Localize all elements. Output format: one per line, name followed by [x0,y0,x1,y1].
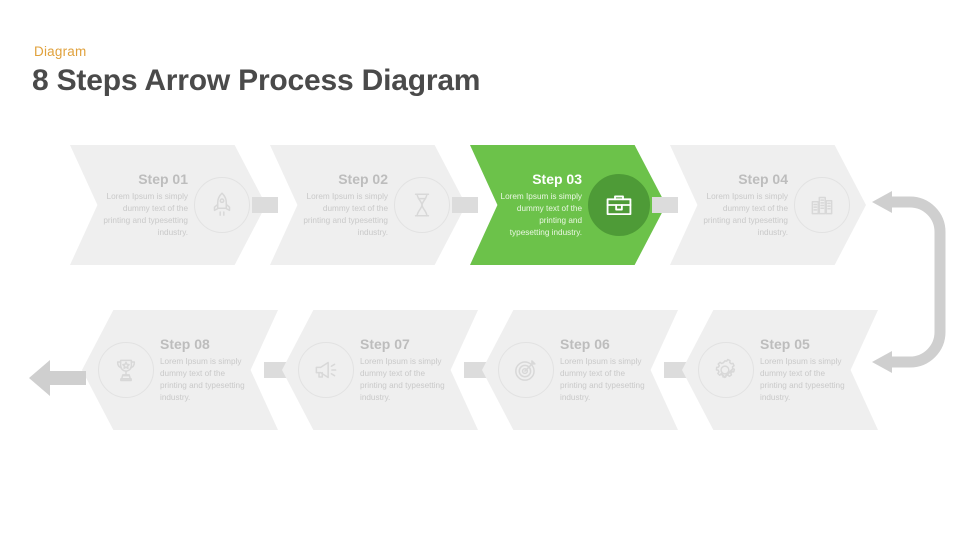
step-description: Lorem Ipsum is simply dummy text of the … [100,191,188,239]
step-title: Step 06 [560,337,650,352]
step-title: Step 05 [760,337,850,352]
connector-tab [652,197,678,213]
target-icon [498,342,554,398]
step-title: Step 08 [160,337,250,352]
step-title: Step 07 [360,337,450,352]
briefcase-icon [588,174,650,236]
connector-arrow-left [26,355,86,406]
connector-tab [452,197,478,213]
step-card-4[interactable]: Step 04 Lorem Ipsum is simply dummy text… [670,145,866,265]
connector-tab [252,197,278,213]
gear-check-icon [698,342,754,398]
rocket-icon [194,177,250,233]
hourglass-icon [394,177,450,233]
step-description: Lorem Ipsum is simply dummy text of the … [560,356,650,404]
buildings-icon [794,177,850,233]
trophy-icon [98,342,154,398]
megaphone-icon [298,342,354,398]
step-card-7[interactable]: Step 07 Lorem Ipsum is simply dummy text… [282,310,478,430]
step-description: Lorem Ipsum is simply dummy text of the … [760,356,850,404]
step-title: Step 02 [300,172,388,187]
slide-kicker: Diagram [34,44,86,59]
process-row-top: Step 01 Lorem Ipsum is simply dummy text… [0,145,960,275]
step-card-6[interactable]: Step 06 Lorem Ipsum is simply dummy text… [482,310,678,430]
step-card-2[interactable]: Step 02 Lorem Ipsum is simply dummy text… [270,145,466,265]
page-title: 8 Steps Arrow Process Diagram [32,64,480,98]
step-card-1[interactable]: Step 01 Lorem Ipsum is simply dummy text… [70,145,266,265]
step-description: Lorem Ipsum is simply dummy text of the … [500,191,582,239]
step-description: Lorem Ipsum is simply dummy text of the … [700,191,788,239]
step-card-5[interactable]: Step 05 Lorem Ipsum is simply dummy text… [682,310,878,430]
slide-canvas: Diagram 8 Steps Arrow Process Diagram St… [0,0,960,540]
process-row-bottom: Step 08 Lorem Ipsum is simply dummy text… [0,310,960,440]
step-title: Step 04 [700,172,788,187]
step-card-8[interactable]: Step 08 Lorem Ipsum is simply dummy text… [82,310,278,430]
step-title: Step 01 [100,172,188,187]
step-description: Lorem Ipsum is simply dummy text of the … [300,191,388,239]
step-card-3[interactable]: Step 03 Lorem Ipsum is simply dummy text… [470,145,666,265]
step-description: Lorem Ipsum is simply dummy text of the … [160,356,250,404]
step-title: Step 03 [500,172,582,187]
step-description: Lorem Ipsum is simply dummy text of the … [360,356,450,404]
